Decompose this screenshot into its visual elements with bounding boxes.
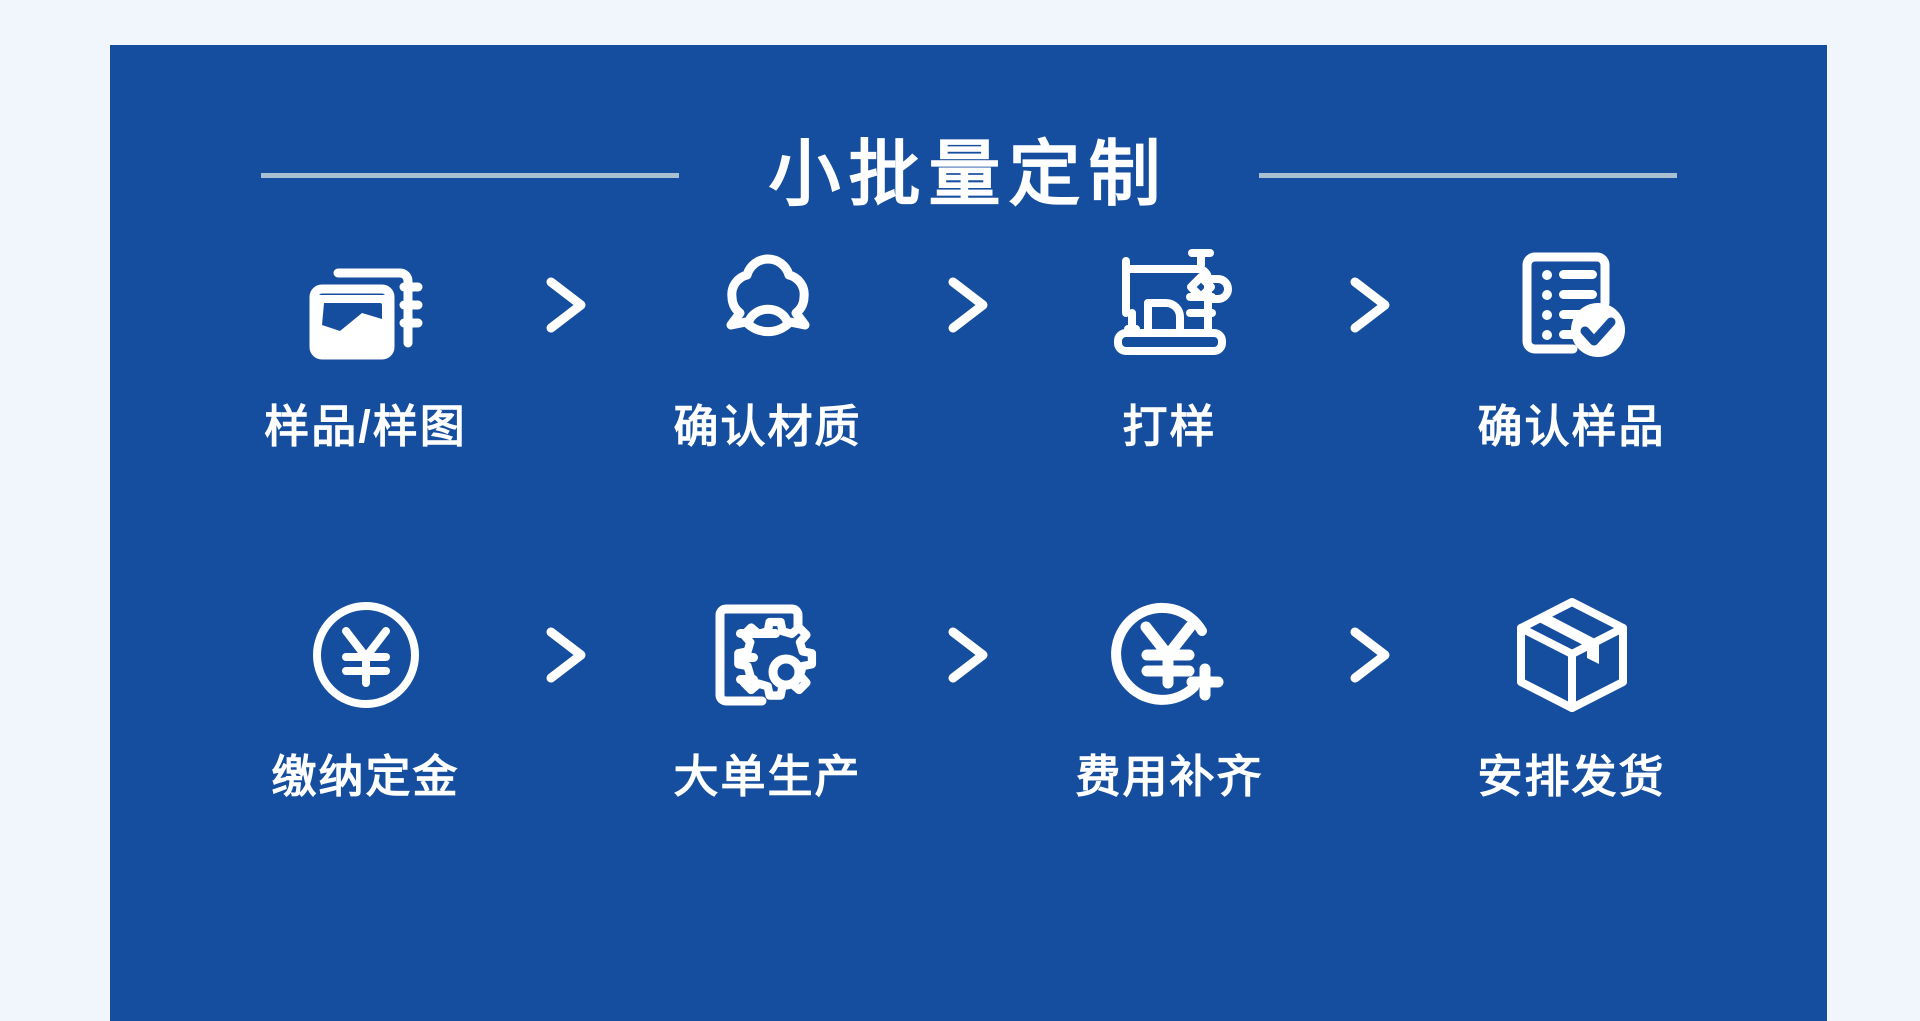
- flow-arrow-icon: [492, 230, 642, 380]
- step-label: 缴纳定金: [271, 752, 459, 802]
- step-pay-deposit[interactable]: 缴纳定金: [240, 580, 492, 802]
- step-label: 打样: [1122, 402, 1216, 452]
- flow-arrow-icon: [894, 580, 1044, 730]
- step-confirm-material[interactable]: 确认材质: [642, 230, 894, 452]
- step-label: 费用补齐: [1075, 752, 1263, 802]
- panel-header: 小批量定制: [110, 120, 1827, 230]
- flow-arrow-icon: [1296, 230, 1446, 380]
- checklist-approved-icon: [1509, 230, 1635, 380]
- flow-arrow-icon: [894, 230, 1044, 380]
- yuan-plus-icon: [1106, 580, 1234, 730]
- step-label: 安排发货: [1477, 752, 1665, 802]
- flow-rows: 样品/样图: [110, 230, 1827, 930]
- step-arrange-shipment[interactable]: 安排发货: [1446, 580, 1698, 802]
- sample-photo-cards-icon: [300, 230, 432, 380]
- document-gear-icon: [704, 580, 832, 730]
- flow-row-2: 缴纳定金: [110, 580, 1827, 930]
- step-bulk-production[interactable]: 大单生产: [642, 580, 894, 802]
- flow-row-1: 样品/样图: [110, 230, 1827, 580]
- yuan-coin-icon: [304, 580, 428, 730]
- step-label: 确认材质: [673, 402, 861, 452]
- step-sample-photo[interactable]: 样品/样图: [240, 230, 492, 452]
- step-label: 确认样品: [1477, 402, 1665, 452]
- divider-left-rule: [261, 173, 679, 178]
- flow-arrow-icon: [1296, 580, 1446, 730]
- fabric-cotton-icon: [701, 230, 835, 380]
- page-title: 小批量定制: [679, 139, 1259, 211]
- flow-arrow-icon: [492, 580, 642, 730]
- step-label: 样品/样图: [264, 402, 467, 452]
- page-root: 小批量定制: [0, 0, 1920, 1021]
- step-balance-payment[interactable]: 费用补齐: [1044, 580, 1296, 802]
- step-label: 大单生产: [673, 752, 861, 802]
- step-confirm-sample[interactable]: 确认样品: [1446, 230, 1698, 452]
- shipping-box-icon: [1507, 580, 1637, 730]
- step-proofing[interactable]: 打样: [1044, 230, 1296, 452]
- sewing-machine-icon: [1104, 230, 1236, 380]
- custom-order-flow-panel: 小批量定制: [110, 45, 1827, 1021]
- divider-right-rule: [1259, 173, 1677, 178]
